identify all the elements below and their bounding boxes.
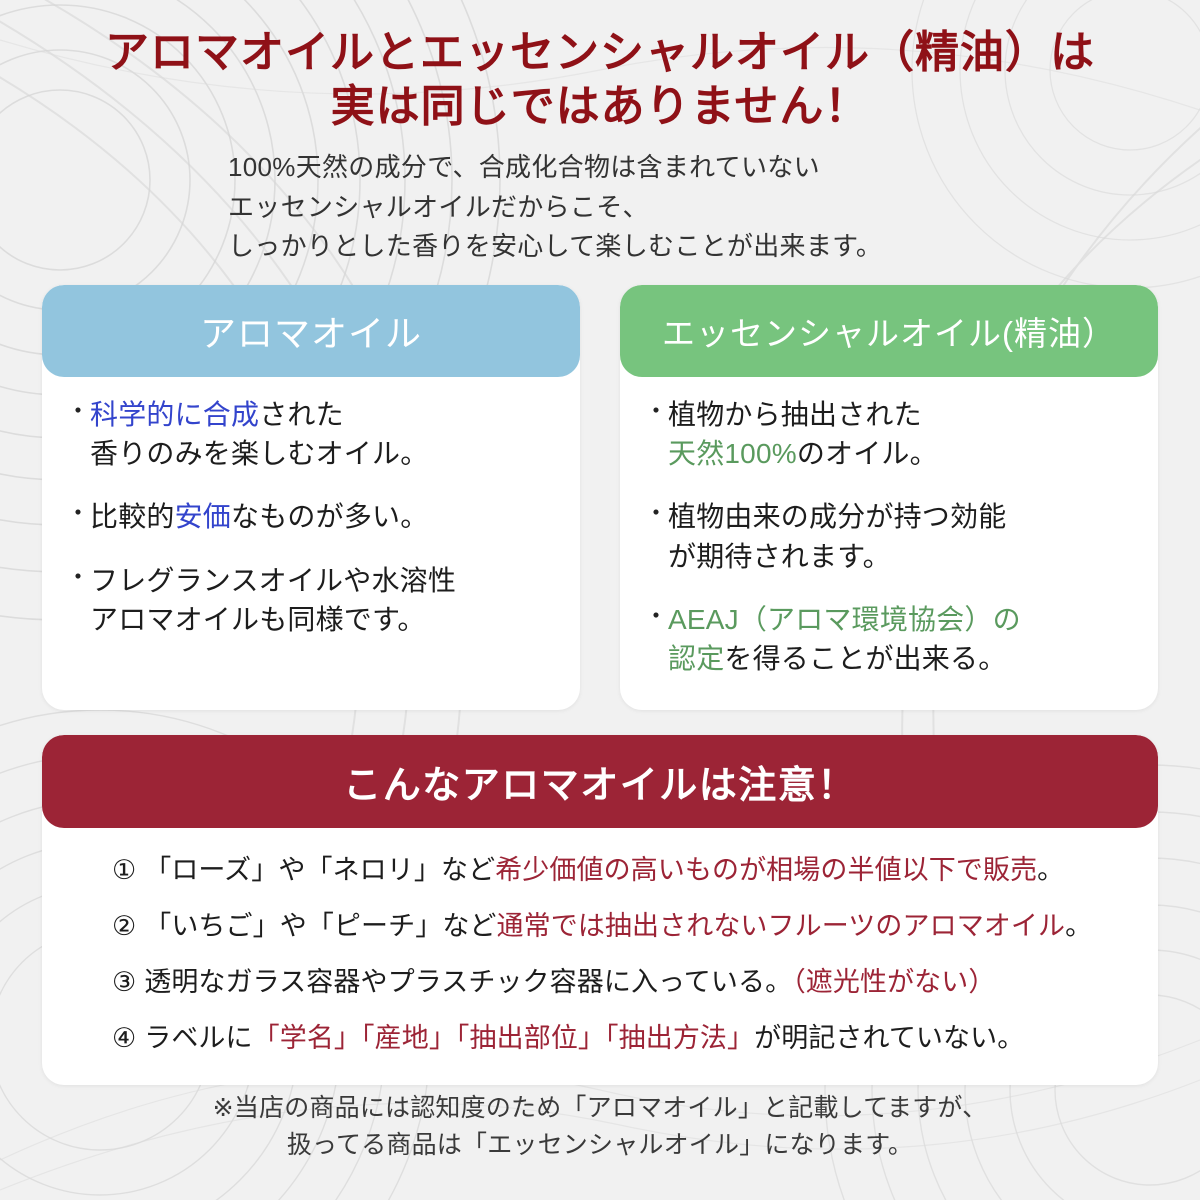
plain-text: 比較的 bbox=[90, 501, 175, 532]
list-item: ・ 科学的に合成された 香りのみを楽しむオイル。 bbox=[42, 395, 580, 473]
list-text: 透明なガラス容器やプラスチック容器に入っている。（遮光性がない） bbox=[144, 962, 995, 1004]
bullet-marker-icon: ・ bbox=[644, 395, 668, 429]
plain-text: 香りのみを楽しむオイル。 bbox=[90, 438, 428, 469]
card-essential-oil: エッセンシャルオイル(精油） ・ 植物から抽出された 天然100%のオイル。 ・… bbox=[620, 285, 1158, 710]
bullet-marker-icon: ・ bbox=[644, 600, 668, 634]
subtitle-line-1: 100%天然の成分で、合成化合物は含まれていない bbox=[228, 148, 1028, 188]
footer-line-1: ※当店の商品には認知度のため「アロマオイル」と記載してますが、 bbox=[0, 1090, 1200, 1127]
bullet-list-essential-oil: ・ 植物から抽出された 天然100%のオイル。 ・ 植物由来の成分が持つ効能 が… bbox=[620, 377, 1158, 678]
plain-text: 「いちご」や「ピーチ」など bbox=[144, 911, 496, 941]
list-text: 「ローズ」や「ネロリ」など希少価値の高いものが相場の半値以下で販売。 bbox=[144, 850, 1064, 892]
plain-text: 植物由来の成分が持つ効能 bbox=[668, 501, 1006, 532]
list-item: ② 「いちご」や「ピーチ」など通常では抽出されないフルーツのアロマオイル。 bbox=[42, 906, 1158, 948]
list-item: ・ 植物から抽出された 天然100%のオイル。 bbox=[620, 395, 1158, 473]
list-item: ① 「ローズ」や「ネロリ」など希少価値の高いものが相場の半値以下で販売。 bbox=[42, 850, 1158, 892]
highlight-text: 天然100% bbox=[668, 438, 797, 469]
footer-line-2: 扱ってる商品は「エッセンシャルオイル」になります。 bbox=[0, 1127, 1200, 1164]
list-item: ④ ラベルに「学名」「産地」「抽出部位」「抽出方法」が明記されていない。 bbox=[42, 1018, 1158, 1060]
warning-banner: こんなアロマオイルは注意！ bbox=[42, 735, 1158, 828]
plain-text: ラベルに bbox=[144, 1023, 252, 1053]
bullet-text: 科学的に合成された 香りのみを楽しむオイル。 bbox=[90, 395, 428, 473]
highlight-text: （遮光性がない） bbox=[792, 967, 995, 997]
list-number: ② bbox=[112, 911, 136, 942]
plain-text: のオイル。 bbox=[797, 438, 938, 469]
bullet-text: 比較的安価なものが多い。 bbox=[90, 497, 428, 536]
comparison-cards: アロマオイル ・ 科学的に合成された 香りのみを楽しむオイル。 ・ 比較的安価な… bbox=[42, 285, 1158, 710]
highlight-text: 科学的に合成 bbox=[90, 399, 259, 430]
plain-text: が期待されます。 bbox=[668, 541, 891, 572]
list-item: ・ AEAJ（アロマ環境協会）の 認定を得ることが出来る。 bbox=[620, 600, 1158, 678]
plain-text: 。 bbox=[1065, 911, 1092, 941]
subtitle-line-3: しっかりとした香りを安心して楽しむことが出来ます。 bbox=[228, 227, 1028, 267]
card-header-essential-oil: エッセンシャルオイル(精油） bbox=[620, 285, 1158, 377]
bullet-marker-icon: ・ bbox=[66, 395, 90, 429]
list-number: ③ bbox=[112, 967, 136, 998]
page-title: アロマオイルとエッセンシャルオイル（精油）は 実は同じではありません！ bbox=[0, 26, 1200, 133]
plain-text: アロマオイルも同様です。 bbox=[90, 604, 426, 635]
bullet-marker-icon: ・ bbox=[644, 497, 668, 531]
plain-text: フレグランスオイルや水溶性 bbox=[90, 565, 456, 596]
highlight-text: 「学名」「産地」「抽出部位」「抽出方法」 bbox=[253, 1023, 755, 1053]
bullet-text: 植物から抽出された 天然100%のオイル。 bbox=[668, 395, 938, 473]
list-text: 「いちご」や「ピーチ」など通常では抽出されないフルーツのアロマオイル。 bbox=[144, 906, 1092, 948]
list-item: ③ 透明なガラス容器やプラスチック容器に入っている。（遮光性がない） bbox=[42, 962, 1158, 1004]
plain-text: なものが多い。 bbox=[231, 501, 428, 532]
bullet-marker-icon: ・ bbox=[66, 561, 90, 595]
list-number: ① bbox=[112, 855, 136, 886]
title-line-1: アロマオイルとエッセンシャルオイル（精油）は bbox=[0, 26, 1200, 80]
plain-text: 植物から抽出された bbox=[668, 399, 922, 430]
infographic-page: アロマオイルとエッセンシャルオイル（精油）は 実は同じではありません！ 100%… bbox=[0, 0, 1200, 1200]
warning-banner-label: こんなアロマオイルは注意！ bbox=[343, 754, 857, 809]
subtitle-line-2: エッセンシャルオイルだからこそ、 bbox=[228, 188, 1028, 228]
highlight-text: 安価 bbox=[175, 501, 231, 532]
plain-text: が明記されていない。 bbox=[754, 1023, 1024, 1053]
plain-text: された bbox=[259, 399, 344, 430]
highlight-text: 認定 bbox=[668, 643, 724, 674]
subtitle: 100%天然の成分で、合成化合物は含まれていない エッセンシャルオイルだからこそ… bbox=[228, 148, 1028, 267]
footer-note: ※当店の商品には認知度のため「アロマオイル」と記載してますが、 扱ってる商品は「… bbox=[0, 1090, 1200, 1164]
bullet-text: 植物由来の成分が持つ効能 が期待されます。 bbox=[668, 497, 1006, 575]
card-header-label-essential-oil: エッセンシャルオイル(精油） bbox=[662, 307, 1116, 355]
card-header-label-aroma-oil: アロマオイル bbox=[200, 305, 422, 357]
list-text: ラベルに「学名」「産地」「抽出部位」「抽出方法」が明記されていない。 bbox=[144, 1018, 1024, 1060]
list-item: ・ フレグランスオイルや水溶性 アロマオイルも同様です。 bbox=[42, 561, 580, 639]
warning-list: ① 「ローズ」や「ネロリ」など希少価値の高いものが相場の半値以下で販売。 ② 「… bbox=[42, 828, 1158, 1059]
list-number: ④ bbox=[112, 1023, 136, 1054]
bullet-text: AEAJ（アロマ環境協会）の 認定を得ることが出来る。 bbox=[668, 600, 1021, 678]
plain-text: 。 bbox=[1037, 855, 1064, 885]
bullet-text: フレグランスオイルや水溶性 アロマオイルも同様です。 bbox=[90, 561, 456, 639]
card-header-aroma-oil: アロマオイル bbox=[42, 285, 580, 377]
highlight-text: 通常では抽出されないフルーツのアロマオイル bbox=[497, 911, 1066, 941]
plain-text: 「ローズ」や「ネロリ」など bbox=[144, 855, 495, 885]
warning-section: こんなアロマオイルは注意！ ① 「ローズ」や「ネロリ」など希少価値の高いものが相… bbox=[42, 735, 1158, 1085]
list-item: ・ 比較的安価なものが多い。 bbox=[42, 497, 580, 536]
bullet-list-aroma-oil: ・ 科学的に合成された 香りのみを楽しむオイル。 ・ 比較的安価なものが多い。 … bbox=[42, 377, 580, 639]
highlight-text: 希少価値の高いものが相場の半値以下で販売 bbox=[495, 855, 1037, 885]
highlight-text: AEAJ（アロマ環境協会）の bbox=[668, 604, 1021, 635]
plain-text: 透明なガラス容器やプラスチック容器に入っている。 bbox=[144, 967, 792, 997]
plain-text: を得ることが出来る。 bbox=[724, 643, 1006, 674]
title-line-2: 実は同じではありません！ bbox=[0, 80, 1200, 134]
bullet-marker-icon: ・ bbox=[66, 497, 90, 531]
card-aroma-oil: アロマオイル ・ 科学的に合成された 香りのみを楽しむオイル。 ・ 比較的安価な… bbox=[42, 285, 580, 710]
list-item: ・ 植物由来の成分が持つ効能 が期待されます。 bbox=[620, 497, 1158, 575]
